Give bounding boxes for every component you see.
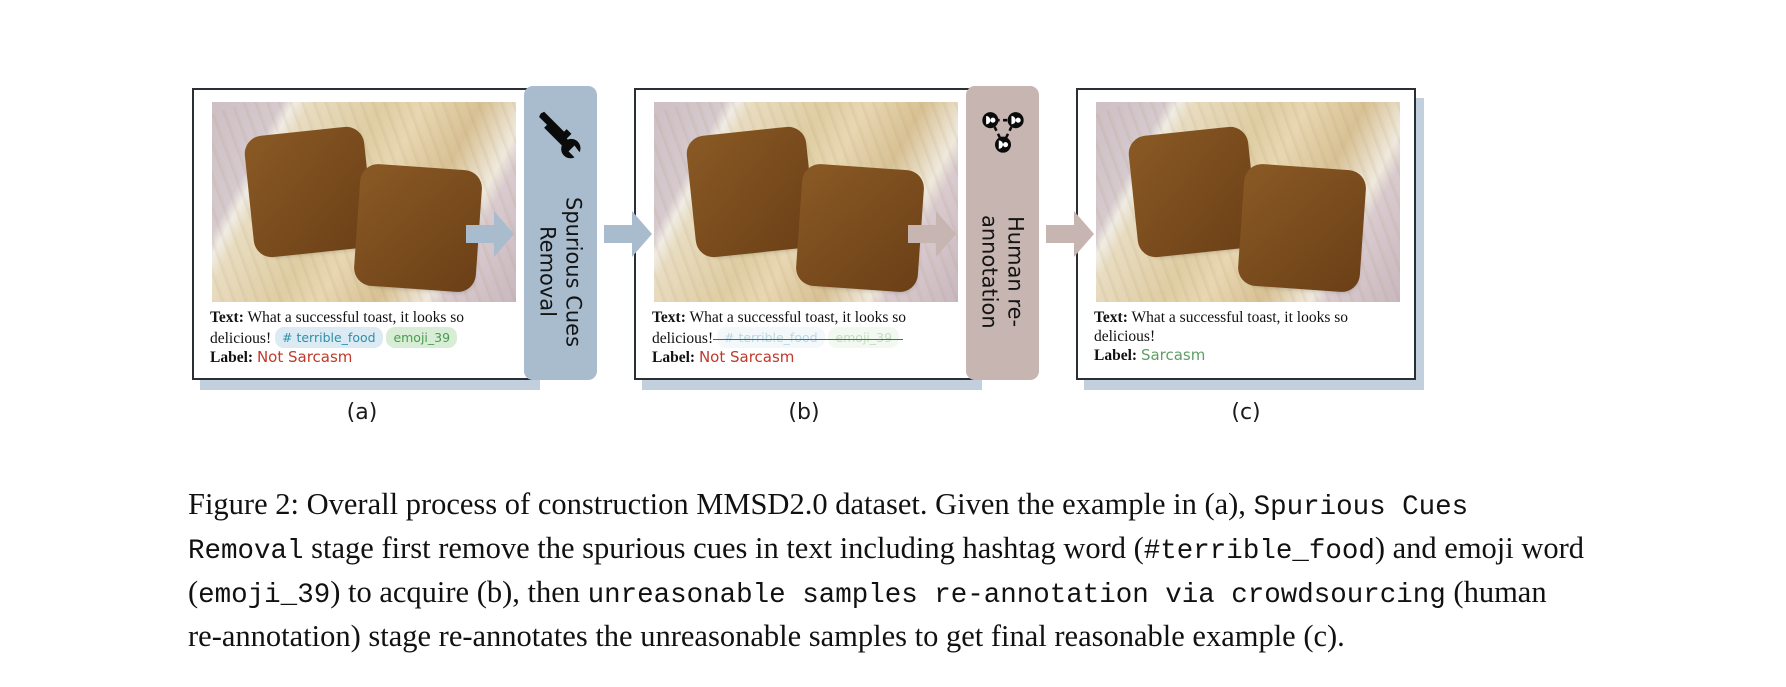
tools-icon <box>524 100 597 164</box>
panel-b-photo <box>654 102 958 302</box>
label-value: Not Sarcasm <box>699 348 794 366</box>
text-label: Text: <box>210 309 244 326</box>
panel-a-sublabel: (a) <box>192 400 532 425</box>
text-label: Text: <box>652 309 686 326</box>
people-network-icon <box>966 100 1039 164</box>
panel-c-text-line: Text: What a successful toast, it looks … <box>1094 308 1402 346</box>
caption-code-span: #terrible_food <box>1144 536 1375 567</box>
panel-c: Text: What a successful toast, it looks … <box>1076 88 1416 380</box>
label-value: Not Sarcasm <box>257 348 352 366</box>
label-label: Label: <box>652 349 695 366</box>
label-label: Label: <box>1094 347 1137 364</box>
panel-c-photo <box>1096 102 1400 302</box>
stage-human-re-annotation: Human re- annotation <box>966 86 1039 380</box>
stage-1-title: Spurious Cues Removal <box>535 197 587 347</box>
toast-slice <box>690 131 811 254</box>
arrow-stage2-to-c <box>1046 211 1094 257</box>
figure-caption: Figure 2: Overall process of constructio… <box>188 484 1588 656</box>
panel-a-text-line: Text: What a successful toast, it looks … <box>210 308 518 348</box>
panel-c-label-line: Label: Sarcasm <box>1094 346 1402 365</box>
emoji-badge: emoji_39 <box>828 327 899 348</box>
stage-spurious-cues-removal: Spurious Cues Removal <box>524 86 597 380</box>
caption-code-span: emoji_39 <box>198 580 330 611</box>
emoji-badge: emoji_39 <box>386 327 457 348</box>
panel-b-caption: Text: What a successful toast, it looks … <box>652 308 960 367</box>
caption-text-span: stage first remove the spurious cues in … <box>304 531 1144 565</box>
caption-number: Figure 2: <box>188 487 299 521</box>
hashtag-badge: # terrible_food <box>275 327 383 348</box>
panel-c-caption: Text: What a successful toast, it looks … <box>1094 308 1402 365</box>
stage-2-title-wrap: Human re- annotation <box>966 172 1039 372</box>
panel-a-caption: Text: What a successful toast, it looks … <box>210 308 518 367</box>
hashtag-badge: # terrible_food <box>717 327 825 348</box>
caption-code-span: unreasonable samples re-annotation via c… <box>588 580 1446 611</box>
label-label: Label: <box>210 349 253 366</box>
caption-text-span: Overall process of construction MMSD2.0 … <box>299 487 1254 521</box>
figure-diagram: Text: What a successful toast, it looks … <box>0 0 1786 470</box>
text-label: Text: <box>1094 309 1128 326</box>
arrow-stage1-to-b <box>604 211 652 257</box>
panel-b-sublabel: (b) <box>634 400 974 425</box>
arrow-a-to-stage1 <box>466 211 514 257</box>
toast-slice <box>800 168 920 288</box>
hashtag-badge-removed: # terrible_food <box>717 330 825 347</box>
toast-slice <box>358 168 478 288</box>
panel-c-sublabel: (c) <box>1076 400 1416 425</box>
panel-b-label-line: Label: Not Sarcasm <box>652 348 960 367</box>
toast-slice <box>1132 131 1253 254</box>
panel-a-photo <box>212 102 516 302</box>
text-value: What a successful toast, it looks so del… <box>1094 309 1348 345</box>
toast-slice <box>1242 168 1362 288</box>
stage-1-title-wrap: Spurious Cues Removal <box>524 172 597 372</box>
label-value: Sarcasm <box>1141 346 1205 364</box>
panel-a-label-line: Label: Not Sarcasm <box>210 348 518 367</box>
strikethrough-rule <box>824 339 903 341</box>
panel-b-text-line: Text: What a successful toast, it looks … <box>652 308 960 348</box>
caption-text-span: ) to acquire (b), then <box>330 575 587 609</box>
arrow-b-to-stage2 <box>908 211 956 257</box>
strikethrough-rule <box>713 339 829 341</box>
stage-2-title: Human re- annotation <box>977 215 1029 329</box>
toast-slice <box>248 131 369 254</box>
emoji-badge-removed: emoji_39 <box>828 330 899 347</box>
